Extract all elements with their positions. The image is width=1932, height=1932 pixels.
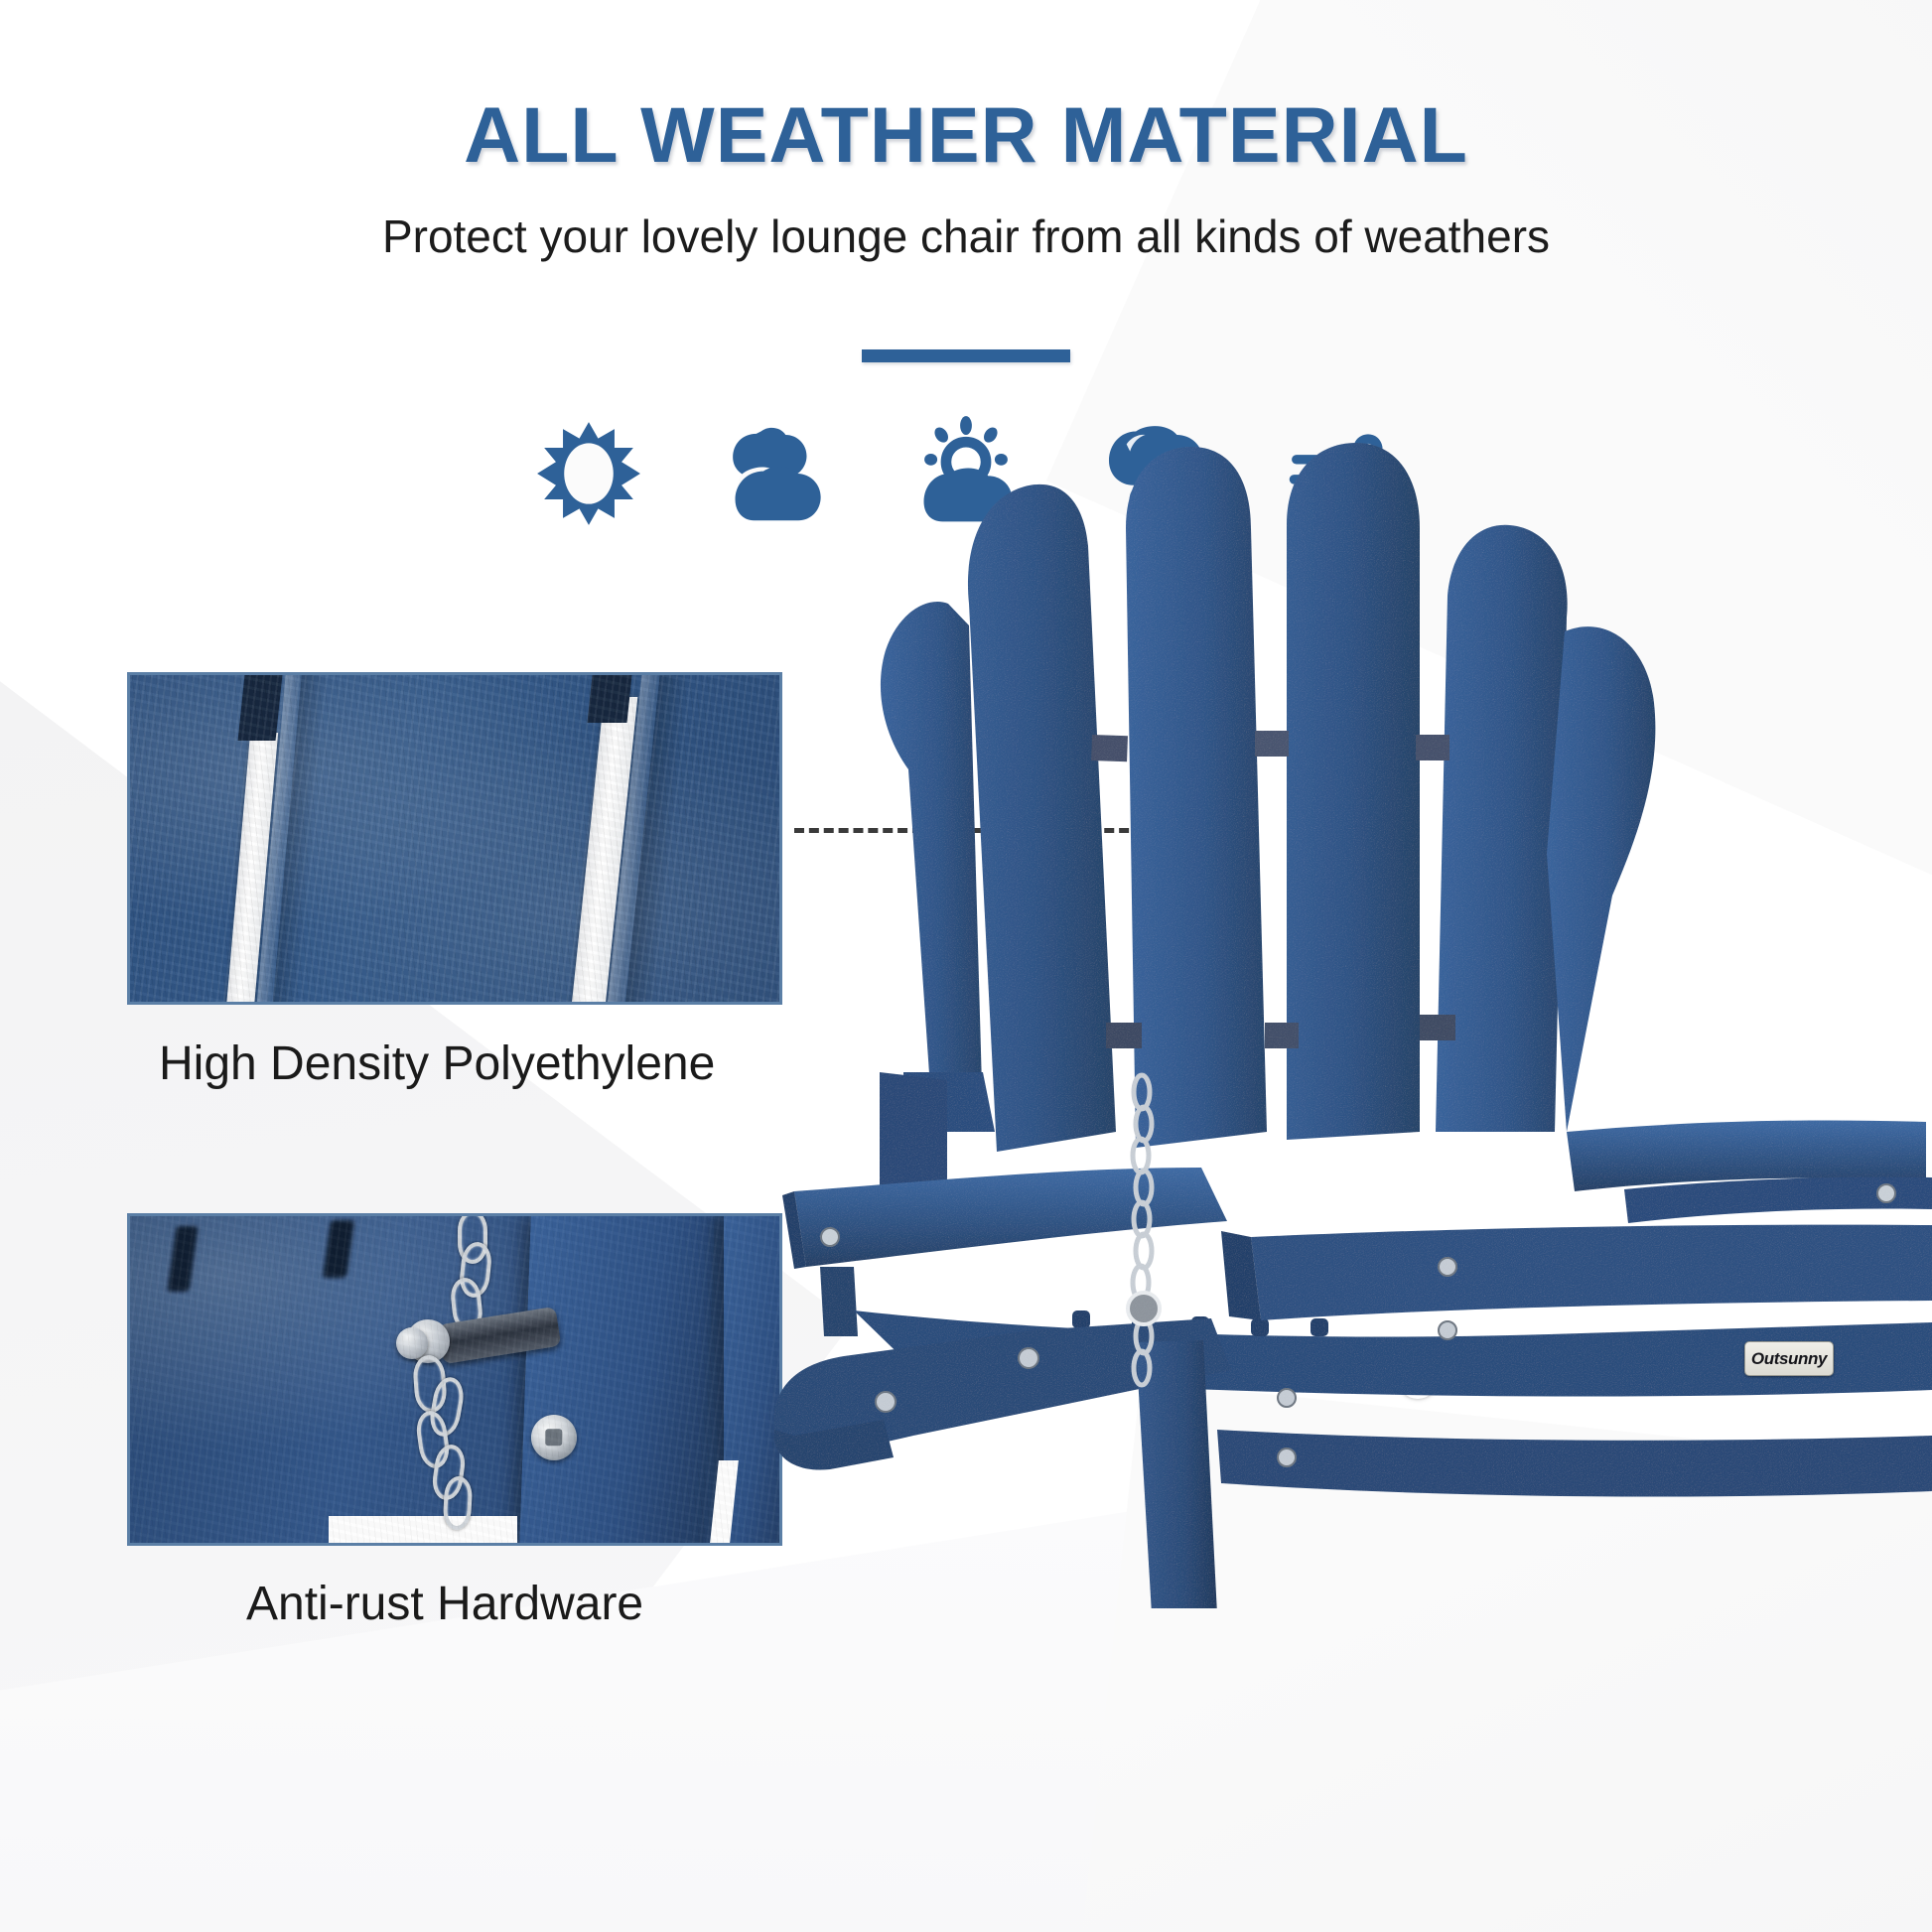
brand-name: Outsunny (1751, 1349, 1827, 1369)
brand-badge: Outsunny (1744, 1341, 1834, 1376)
detail-photo-hardware (127, 1213, 782, 1546)
marketing-image-canvas: ALL WEATHER MATERIAL Protect your lovely… (0, 0, 1932, 1932)
hdpe-grain-texture (130, 675, 779, 1002)
page-subtitle: Protect your lovely lounge chair from al… (0, 211, 1932, 262)
header-divider (862, 349, 1070, 362)
hardware-grain-texture (130, 1216, 779, 1543)
detail-caption-hdpe: High Density Polyethylene (159, 1036, 715, 1091)
detail-caption-hardware: Anti-rust Hardware (246, 1577, 643, 1631)
header-block: ALL WEATHER MATERIAL Protect your lovely… (0, 95, 1932, 262)
sun-icon (530, 415, 647, 532)
product-image-adirondack-chair (735, 437, 1932, 1608)
page-title: ALL WEATHER MATERIAL (0, 95, 1932, 174)
detail-photo-hdpe (127, 672, 782, 1005)
background-wedge-top-left (0, 427, 852, 1932)
